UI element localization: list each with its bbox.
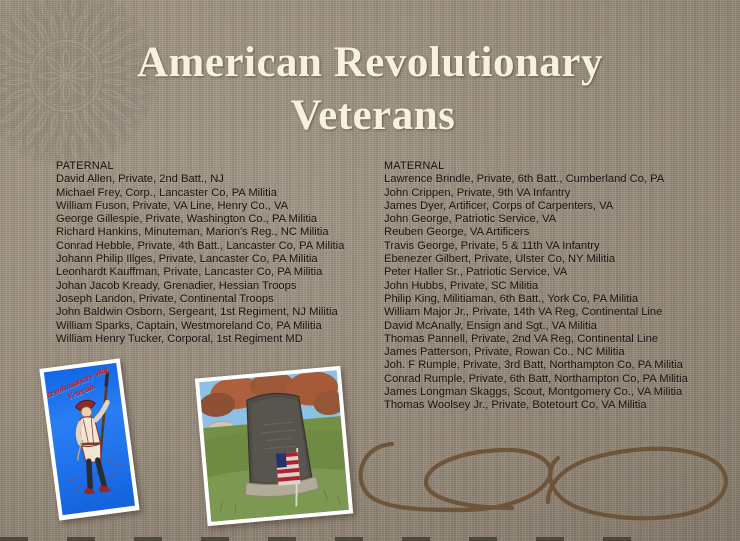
- veteran-entry: John George, Patriotic Service, VA: [384, 213, 688, 226]
- veteran-entry: William Major Jr., Private, 14th VA Reg,…: [384, 306, 688, 319]
- veteran-entry: Travis George, Private, 5 & 11th VA Infa…: [384, 240, 688, 253]
- maternal-veterans-list: MATERNAL Lawrence Brindle, Private, 6th …: [384, 160, 688, 413]
- veteran-entry: William Henry Tucker, Corporal, 1st Regi…: [56, 333, 344, 346]
- paternal-veterans-list: PATERNAL David Allen, Private, 2nd Batt.…: [56, 160, 344, 346]
- veteran-entry: Joh. F Rumple, Private, 3rd Batt, Northa…: [384, 359, 688, 372]
- maternal-heading: MATERNAL: [384, 160, 688, 173]
- maternal-entries: Lawrence Brindle, Private, 6th Batt., Cu…: [384, 173, 688, 412]
- veteran-entry: William Sparks, Captain, Westmoreland Co…: [56, 320, 344, 333]
- veteran-entry: William Fuson, Private, VA Line, Henry C…: [56, 200, 344, 213]
- bottom-dash: [603, 537, 631, 541]
- bottom-dash: [134, 537, 162, 541]
- bottom-dash: [268, 537, 296, 541]
- veteran-entry: Conrad Hebble, Private, 4th Batt., Lanca…: [56, 240, 344, 253]
- bottom-dash: [536, 537, 564, 541]
- veteran-entry: John Crippen, Private, 9th VA Infantry: [384, 187, 688, 200]
- soldier-illustration: Revolutionary War Veteran: [44, 363, 135, 515]
- veteran-entry: Michael Frey, Corp., Lancaster Co, PA Mi…: [56, 187, 344, 200]
- veteran-entry: James Dyer, Artificer, Corps of Carpente…: [384, 200, 688, 213]
- title-line-secondary: Veterans: [0, 89, 740, 142]
- veteran-entry: Conrad Rumple, Private, 6th Batt, Northa…: [384, 373, 688, 386]
- veteran-entry: James Patterson, Private, Rowan Co., NC …: [384, 346, 688, 359]
- veteran-entry: Thomas Woolsey Jr., Private, Botetourt C…: [384, 399, 688, 412]
- paternal-entries: David Allen, Private, 2nd Batt., NJMicha…: [56, 173, 344, 346]
- veteran-entry: James Longman Skaggs, Scout, Montgomery …: [384, 386, 688, 399]
- veteran-entry: Peter Haller Sr., Patriotic Service, VA: [384, 266, 688, 279]
- veteran-entry: David Allen, Private, 2nd Batt., NJ: [56, 173, 344, 186]
- gravestone-image: [199, 370, 349, 521]
- veteran-entry: Joseph Landon, Private, Continental Troo…: [56, 293, 344, 306]
- veteran-entry: John Baldwin Osborn, Sergeant, 1st Regim…: [56, 306, 344, 319]
- bottom-dash: [469, 537, 497, 541]
- veteran-entry: Philip King, Militiaman, 6th Batt., York…: [384, 293, 688, 306]
- title-line-primary: American Revolutionary: [0, 36, 740, 89]
- veteran-entry: Reuben George, VA Artificers: [384, 226, 688, 239]
- bottom-dash-strip: [0, 529, 740, 541]
- paternal-heading: PATERNAL: [56, 160, 344, 173]
- veteran-entry: David McAnally, Ensign and Sgt., VA Mili…: [384, 320, 688, 333]
- veteran-entry: Leonhardt Kauffman, Private, Lancaster C…: [56, 266, 344, 279]
- slide-canvas: American Revolutionary Veterans PATERNAL…: [0, 0, 740, 541]
- bottom-dash: [201, 537, 229, 541]
- bottom-dash: [402, 537, 430, 541]
- veteran-entry: Johan Jacob Kready, Grenadier, Hessian T…: [56, 280, 344, 293]
- gravestone-photo: [195, 366, 353, 526]
- veteran-entry: Richard Hankins, Minuteman, Marion's Reg…: [56, 226, 344, 239]
- veteran-entry: Ebenezer Gilbert, Private, Ulster Co, NY…: [384, 253, 688, 266]
- veteran-entry: Thomas Pannell, Private, 2nd VA Reg, Con…: [384, 333, 688, 346]
- revolutionary-soldier-photo: Revolutionary War Veteran: [39, 358, 139, 520]
- calligraphic-flourish-icon: [352, 424, 738, 536]
- veteran-entry: Lawrence Brindle, Private, 6th Batt., Cu…: [384, 173, 688, 186]
- bottom-dash: [67, 537, 95, 541]
- veteran-entry: John Hubbs, Private, SC Militia: [384, 280, 688, 293]
- page-title: American Revolutionary Veterans: [0, 36, 740, 142]
- bottom-dash: [335, 537, 363, 541]
- veteran-entry: George Gillespie, Private, Washington Co…: [56, 213, 344, 226]
- veteran-entry: Johann Philip Illges, Private, Lancaster…: [56, 253, 344, 266]
- bottom-dash: [0, 537, 28, 541]
